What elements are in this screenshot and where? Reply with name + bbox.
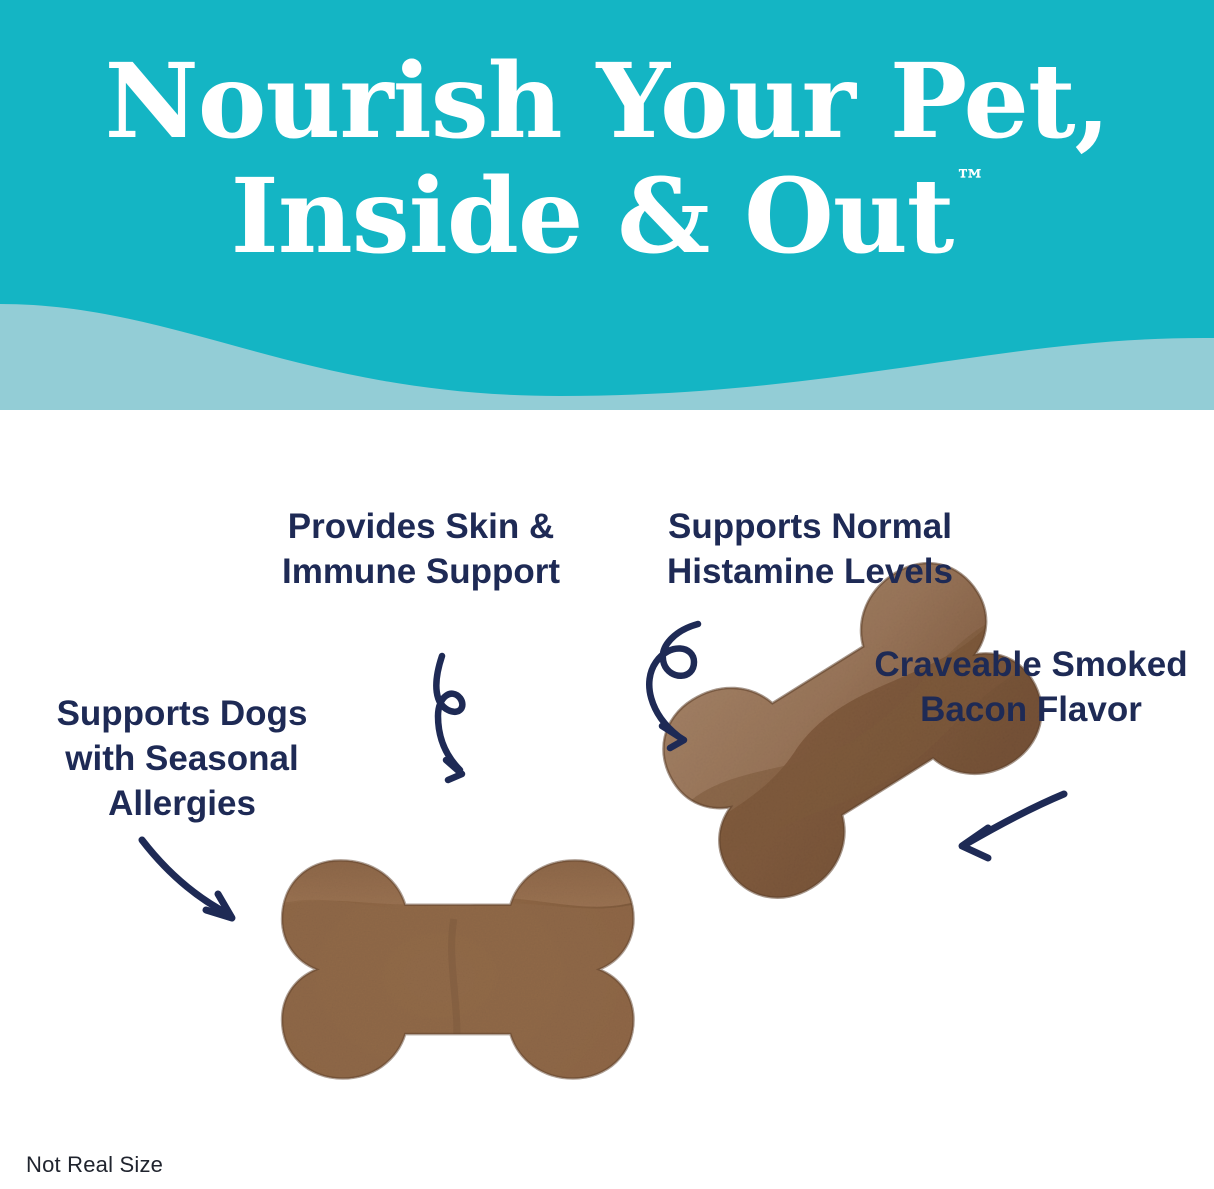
callout-label-histamine: Supports Normal Histamine Levels — [618, 505, 1002, 595]
page-title: Nourish Your Pet, Inside & Out™ — [0, 44, 1214, 275]
curly-down-right-arrow-icon — [632, 618, 742, 763]
callout-label-allergies: Supports Dogs with Seasonal Allergies — [18, 692, 346, 826]
trademark-symbol: ™ — [955, 164, 985, 199]
page-title-line-1: Nourish Your Pet, — [0, 44, 1214, 159]
not-real-size-note: Not Real Size — [26, 1152, 163, 1178]
page-title-line-2-wrap: Inside & Out™ — [231, 159, 984, 274]
product-infographic: Nourish Your Pet, Inside & Out™ — [0, 0, 1214, 1189]
header-banner: Nourish Your Pet, Inside & Out™ — [0, 0, 1214, 410]
curved-down-left-arrow-icon — [948, 782, 1078, 882]
callout-label-skin-immune: Provides Skin & Immune Support — [256, 505, 586, 595]
curved-down-right-arrow-icon — [132, 832, 262, 932]
callout-label-bacon: Craveable Smoked Bacon Flavor — [862, 643, 1200, 733]
dog-treat-front — [276, 826, 640, 1099]
page-title-line-2: Inside & Out — [231, 156, 954, 277]
curly-down-arrow-icon — [418, 650, 498, 790]
